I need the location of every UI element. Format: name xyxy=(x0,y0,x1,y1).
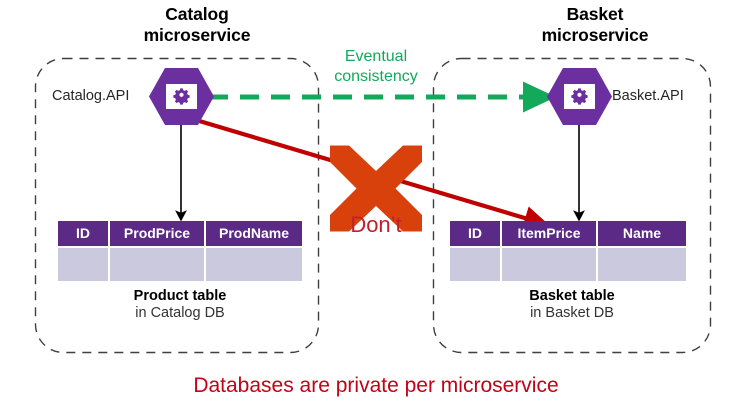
table-cell xyxy=(502,248,598,281)
caption-main: Product table xyxy=(58,288,302,304)
table-header-cell: ID xyxy=(58,221,110,246)
product-table: ID ProdPrice ProdName xyxy=(58,221,302,281)
table-header-cell: ItemPrice xyxy=(502,221,598,246)
table-header-cell: ProdPrice xyxy=(110,221,206,246)
table-cell xyxy=(450,248,502,281)
table-cell xyxy=(110,248,206,281)
gear-icon xyxy=(571,88,587,104)
table-row xyxy=(450,248,686,281)
basket-microservice-title: Basketmicroservice xyxy=(512,4,678,45)
diagram-canvas: Catalogmicroservice Basketmicroservice C… xyxy=(0,0,752,420)
gear-icon xyxy=(173,88,189,104)
product-table-caption: Product table in Catalog DB xyxy=(58,288,302,321)
table-header-cell: ID xyxy=(450,221,502,246)
catalog-api-label: Catalog.API xyxy=(52,88,129,105)
dont-label: Don’t xyxy=(316,212,436,238)
basket-table-caption: Basket table in Basket DB xyxy=(450,288,694,321)
caption-sub: in Basket DB xyxy=(450,305,694,321)
table-cell xyxy=(206,248,302,281)
caption-main: Basket table xyxy=(450,288,694,304)
eventual-consistency-label: Eventualconsistency xyxy=(301,47,451,86)
catalog-microservice-title: Catalogmicroservice xyxy=(114,4,280,45)
table-header-cell: Name xyxy=(598,221,686,246)
table-header-cell: ProdName xyxy=(206,221,302,246)
table-header-row: ID ProdPrice ProdName xyxy=(58,221,302,246)
table-cell xyxy=(58,248,110,281)
table-header-row: ID ItemPrice Name xyxy=(450,221,686,246)
bottom-caption: Databases are private per microservice xyxy=(0,374,752,399)
table-row xyxy=(58,248,302,281)
basket-table: ID ItemPrice Name xyxy=(450,221,686,281)
catalog-api-node[interactable] xyxy=(149,68,214,125)
caption-sub: in Catalog DB xyxy=(58,305,302,321)
basket-api-node[interactable] xyxy=(547,68,612,125)
table-cell xyxy=(598,248,686,281)
basket-api-label: Basket.API xyxy=(612,88,684,105)
